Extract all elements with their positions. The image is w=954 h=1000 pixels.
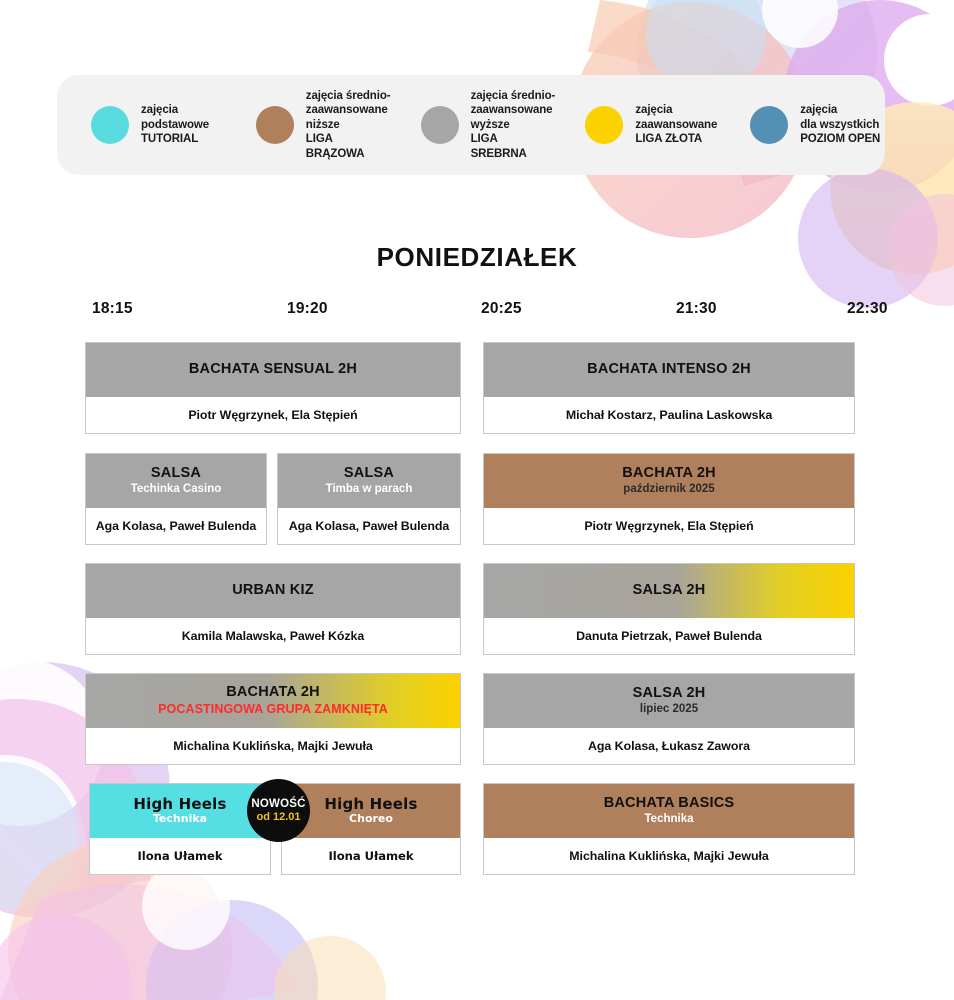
class-title: BACHATA 2H bbox=[622, 466, 716, 482]
class-block-salsa-2h-gold[interactable]: SALSA 2HDanuta Pietrzak, Paweł Bulenda bbox=[483, 563, 855, 655]
class-title: SALSA bbox=[344, 466, 394, 482]
class-block-header: High HeelsTechnika bbox=[90, 784, 270, 838]
class-block-salsa-timba-w-parach[interactable]: SALSATimba w parachAga Kolasa, Paweł Bul… bbox=[277, 453, 461, 545]
class-block-body: Ilona Ułamek bbox=[282, 838, 460, 874]
class-teachers: Piotr Węgrzynek, Ela Stępień bbox=[188, 408, 357, 422]
class-title: High Heels bbox=[324, 796, 417, 813]
class-block-body: Kamila Malawska, Paweł Kózka bbox=[86, 618, 460, 654]
class-block-salsa-2h-lipiec[interactable]: SALSA 2Hlipiec 2025Aga Kolasa, Łukasz Za… bbox=[483, 673, 855, 765]
legend-dot-basic bbox=[91, 106, 129, 144]
legend-dot-bronze bbox=[256, 106, 294, 144]
legend-item: zajęcia średnio- zaawansowane niższe LIG… bbox=[226, 89, 391, 162]
class-title: SALSA bbox=[151, 466, 201, 482]
time-axis-label: 18:15 bbox=[92, 300, 133, 318]
legend-item: zajęcia zaawansowane LIGA ZŁOTA bbox=[555, 103, 720, 147]
class-block-header: URBAN KIZ bbox=[86, 564, 460, 618]
class-block-header: BACHATA 2Hpaździernik 2025 bbox=[484, 454, 854, 508]
time-axis-label: 21:30 bbox=[676, 300, 717, 318]
class-teachers: Danuta Pietrzak, Paweł Bulenda bbox=[576, 629, 762, 643]
time-axis: 18:1519:2020:2521:3022:30 bbox=[0, 300, 954, 326]
class-block-bachata-basics[interactable]: BACHATA BASICSTechnikaMichalina Kuklińsk… bbox=[483, 783, 855, 875]
class-subtitle: październik 2025 bbox=[623, 483, 714, 496]
nowosc-badge-date: od 12.01 bbox=[256, 811, 300, 823]
class-teachers: Piotr Węgrzynek, Ela Stępień bbox=[584, 519, 753, 533]
class-title: BACHATA INTENSO 2H bbox=[587, 362, 751, 378]
class-teachers: Aga Kolasa, Paweł Bulenda bbox=[289, 519, 450, 533]
class-block-header: SALSATechinka Casino bbox=[86, 454, 266, 508]
class-block-body: Aga Kolasa, Paweł Bulenda bbox=[278, 508, 460, 544]
class-subtitle: Technika bbox=[153, 813, 207, 826]
nowosc-badge: NOWOŚĆod 12.01 bbox=[247, 779, 310, 842]
legend-dot-silver bbox=[421, 106, 459, 144]
time-axis-label: 22:30 bbox=[847, 300, 888, 318]
class-teachers: Kamila Malawska, Paweł Kózka bbox=[182, 629, 364, 643]
class-block-header: SALSATimba w parach bbox=[278, 454, 460, 508]
class-block-salsa-technika-casino[interactable]: SALSATechinka CasinoAga Kolasa, Paweł Bu… bbox=[85, 453, 267, 545]
legend-item-label: zajęcia zaawansowane LIGA ZŁOTA bbox=[635, 103, 717, 147]
class-block-bachata-sensual-2h[interactable]: BACHATA SENSUAL 2HPiotr Węgrzynek, Ela S… bbox=[85, 342, 461, 434]
class-teachers: Michalina Kuklińska, Majki Jewuła bbox=[569, 849, 768, 863]
class-block-body: Aga Kolasa, Łukasz Zawora bbox=[484, 728, 854, 764]
time-axis-label: 20:25 bbox=[481, 300, 522, 318]
class-block-high-heels-choreo[interactable]: High HeelsChoreoIlona Ułamek bbox=[281, 783, 461, 875]
class-teachers: Michał Kostarz, Paulina Laskowska bbox=[566, 408, 772, 422]
class-title: BACHATA BASICS bbox=[604, 796, 735, 812]
class-block-body: Piotr Węgrzynek, Ela Stępień bbox=[484, 508, 854, 544]
legend-item: zajęcia dla wszystkich POZIOM OPEN bbox=[720, 103, 885, 147]
schedule-page: zajęcia podstawowe TUTORIALzajęcia średn… bbox=[0, 0, 954, 1000]
legend-item: zajęcia średnio- zaawansowane wyższe LIG… bbox=[391, 89, 556, 162]
class-subtitle: lipiec 2025 bbox=[640, 703, 698, 716]
class-title: BACHATA SENSUAL 2H bbox=[189, 362, 357, 378]
class-title: BACHATA 2H bbox=[226, 685, 320, 701]
class-block-header: SALSA 2H bbox=[484, 564, 854, 618]
time-axis-label: 19:20 bbox=[287, 300, 328, 318]
legend-item-label: zajęcia dla wszystkich POZIOM OPEN bbox=[800, 103, 880, 147]
class-block-header: BACHATA 2HPOCASTINGOWA GRUPA ZAMKNIĘTA bbox=[86, 674, 460, 728]
class-block-header: BACHATA SENSUAL 2H bbox=[86, 343, 460, 397]
class-block-body: Ilona Ułamek bbox=[90, 838, 270, 874]
class-block-header: BACHATA INTENSO 2H bbox=[484, 343, 854, 397]
class-teachers: Aga Kolasa, Paweł Bulenda bbox=[96, 519, 257, 533]
nowosc-badge-label: NOWOŚĆ bbox=[251, 798, 305, 810]
legend-item-label: zajęcia podstawowe TUTORIAL bbox=[141, 103, 209, 147]
class-teachers: Aga Kolasa, Łukasz Zawora bbox=[588, 739, 750, 753]
class-block-body: Michał Kostarz, Paulina Laskowska bbox=[484, 397, 854, 433]
class-block-urban-kiz[interactable]: URBAN KIZKamila Malawska, Paweł Kózka bbox=[85, 563, 461, 655]
class-block-high-heels-technika[interactable]: High HeelsTechnikaIlona Ułamek bbox=[89, 783, 271, 875]
class-teachers: Ilona Ułamek bbox=[329, 849, 414, 863]
class-block-bachata-2h-pocastingowa[interactable]: BACHATA 2HPOCASTINGOWA GRUPA ZAMKNIĘTAMi… bbox=[85, 673, 461, 765]
legend-dot-open bbox=[750, 106, 788, 144]
class-title: SALSA 2H bbox=[633, 583, 706, 599]
class-teachers: Michalina Kuklińska, Majki Jewuła bbox=[173, 739, 372, 753]
legend-panel: zajęcia podstawowe TUTORIALzajęcia średn… bbox=[57, 75, 885, 175]
class-subtitle: Timba w parach bbox=[326, 483, 413, 496]
legend-item-label: zajęcia średnio- zaawansowane niższe LIG… bbox=[306, 89, 391, 162]
class-subtitle: POCASTINGOWA GRUPA ZAMKNIĘTA bbox=[158, 702, 388, 716]
class-title: SALSA 2H bbox=[633, 686, 706, 702]
legend-item: zajęcia podstawowe TUTORIAL bbox=[57, 103, 226, 147]
class-block-body: Danuta Pietrzak, Paweł Bulenda bbox=[484, 618, 854, 654]
class-block-bachata-intenso-2h[interactable]: BACHATA INTENSO 2HMichał Kostarz, Paulin… bbox=[483, 342, 855, 434]
class-title: High Heels bbox=[133, 796, 226, 813]
class-block-bachata-2h-pazdziernik[interactable]: BACHATA 2Hpaździernik 2025Piotr Węgrzyne… bbox=[483, 453, 855, 545]
class-subtitle: Choreo bbox=[349, 813, 393, 826]
class-block-body: Aga Kolasa, Paweł Bulenda bbox=[86, 508, 266, 544]
class-block-body: Piotr Węgrzynek, Ela Stępień bbox=[86, 397, 460, 433]
class-subtitle: Techinka Casino bbox=[131, 483, 222, 496]
class-title: URBAN KIZ bbox=[232, 583, 314, 599]
class-block-header: BACHATA BASICSTechnika bbox=[484, 784, 854, 838]
class-teachers: Ilona Ułamek bbox=[138, 849, 223, 863]
class-block-header: SALSA 2Hlipiec 2025 bbox=[484, 674, 854, 728]
class-block-body: Michalina Kuklińska, Majki Jewuła bbox=[86, 728, 460, 764]
class-subtitle: Technika bbox=[645, 813, 694, 826]
page-title: PONIEDZIAŁEK bbox=[0, 242, 954, 273]
class-block-body: Michalina Kuklińska, Majki Jewuła bbox=[484, 838, 854, 874]
legend-dot-gold bbox=[585, 106, 623, 144]
legend-item-label: zajęcia średnio- zaawansowane wyższe LIG… bbox=[471, 89, 556, 162]
